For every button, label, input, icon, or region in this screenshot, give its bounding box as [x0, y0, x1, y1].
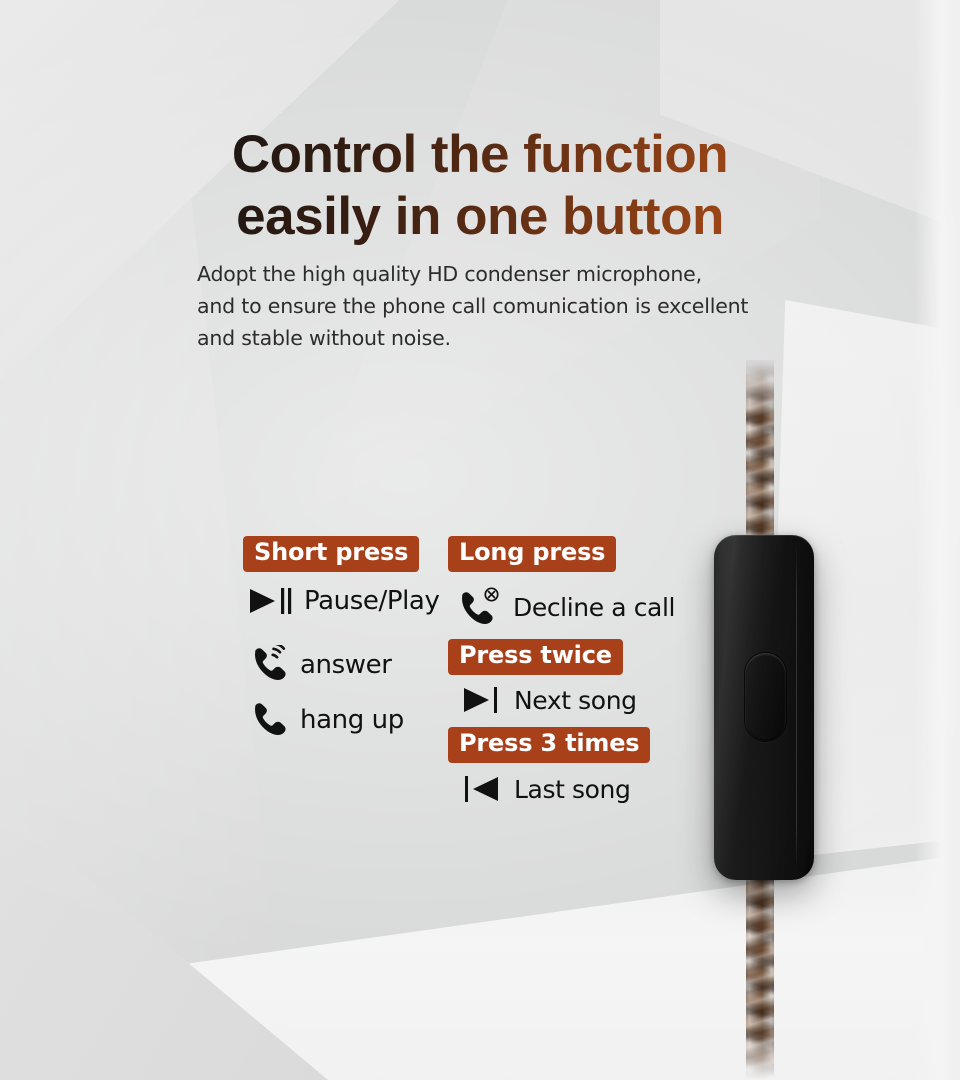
- legend-entry-next-song: Next song: [462, 685, 637, 715]
- remote-multifunction-button[interactable]: [745, 653, 786, 741]
- phone-handset-icon: [248, 700, 292, 740]
- badge-press-twice: Press twice: [448, 639, 623, 675]
- badge-press-3-times: Press 3 times: [448, 727, 650, 763]
- badge-long-press: Long press: [448, 536, 616, 572]
- legend-entry-last-song: Last song: [462, 774, 630, 804]
- legend-entry-pause-play: Pause/Play: [248, 586, 439, 616]
- phone-incoming-icon: [248, 645, 292, 685]
- legend-entry-answer: answer: [248, 645, 392, 685]
- legend-label-next-song: Next song: [514, 688, 637, 713]
- cable-fade-top: [746, 360, 774, 416]
- feature-panel: Control the function easily in one butto…: [0, 0, 960, 1080]
- play-pause-icon: [248, 586, 296, 616]
- legend-label-decline-call: Decline a call: [513, 595, 675, 620]
- phone-decline-icon: [457, 586, 505, 628]
- legend-label-answer: answer: [300, 652, 392, 678]
- remote-seam: [796, 545, 797, 870]
- legend-label-pause-play: Pause/Play: [304, 588, 439, 614]
- next-track-icon: [462, 685, 506, 715]
- cable-fade-bottom: [746, 1032, 774, 1080]
- inline-remote-module: [714, 535, 814, 880]
- badge-short-press: Short press: [243, 536, 419, 572]
- legend-entry-decline-call: Decline a call: [457, 586, 675, 628]
- legend-label-last-song: Last song: [514, 777, 630, 802]
- earphone-hardware: [708, 360, 828, 1080]
- previous-track-icon: [462, 774, 506, 804]
- legend-entry-hang-up: hang up: [248, 700, 404, 740]
- legend-label-hang-up: hang up: [300, 707, 404, 733]
